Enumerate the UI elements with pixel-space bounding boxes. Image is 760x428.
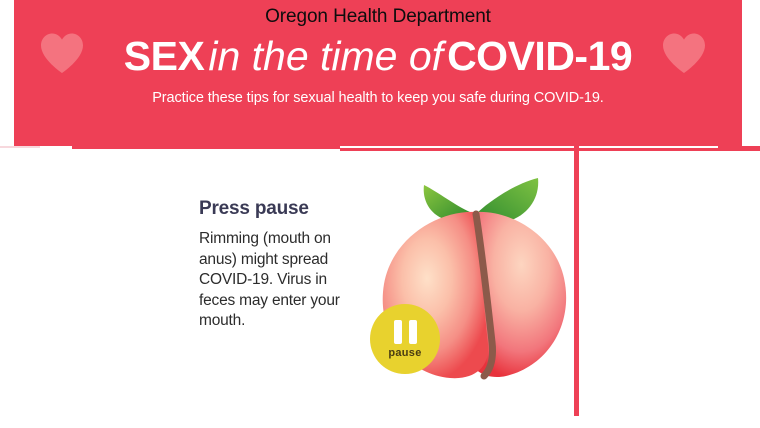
headline: SEXin the time ofCOVID-19 (14, 33, 742, 79)
tip-heading: Press pause (199, 198, 359, 220)
tip-text-column: Press pause Rimming (mouth on anus) migh… (199, 198, 359, 332)
headline-part-sex: SEX (124, 33, 205, 79)
pause-badge-label: pause (388, 347, 421, 359)
headline-part-inthetimeof: in the time of (204, 33, 447, 79)
pause-badge[interactable]: pause (370, 304, 440, 374)
content-area: Press pause Rimming (mouth on anus) migh… (0, 146, 760, 428)
tip-body-text: Rimming (mouth on anus) might spread COV… (199, 229, 359, 332)
infographic-page: Oregon Health Department SEXin the time … (0, 0, 760, 428)
header-banner: Oregon Health Department SEXin the time … (14, 0, 742, 146)
headline-part-covid19: COVID-19 (447, 33, 632, 79)
banner-subtitle: Practice these tips for sexual health to… (14, 90, 742, 106)
pause-icon (394, 320, 417, 344)
organization-title: Oregon Health Department (14, 6, 742, 28)
